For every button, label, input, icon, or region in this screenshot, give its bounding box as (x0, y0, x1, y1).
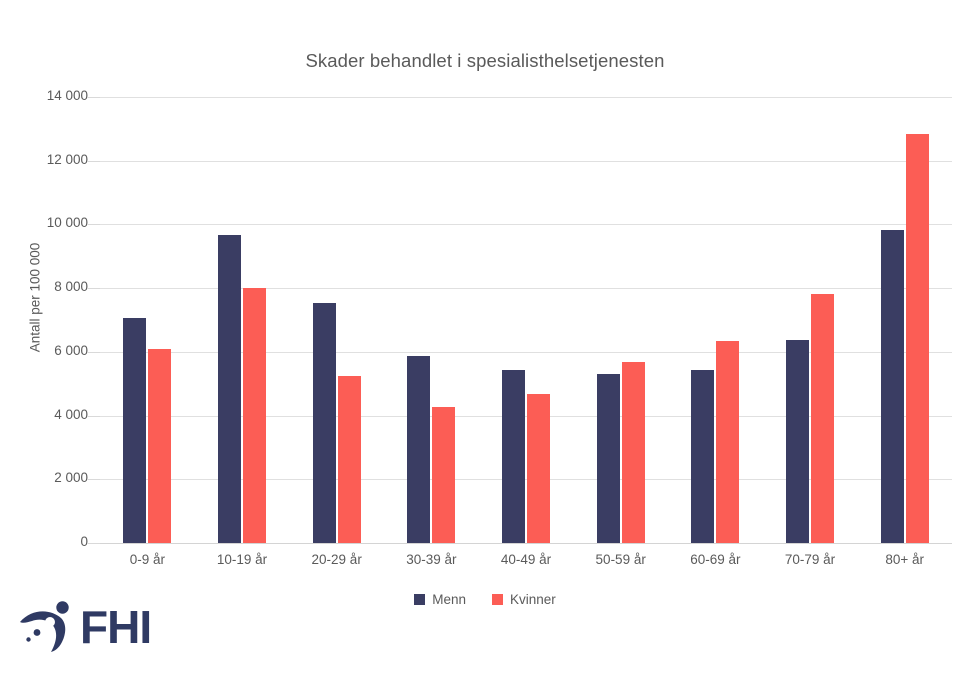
y-tick-mark (88, 543, 100, 544)
chart-title: Skader behandlet i spesialisthelsetjenes… (0, 50, 970, 72)
bar-groups (100, 97, 952, 543)
bar-group (100, 97, 195, 543)
y-tick-mark (88, 416, 100, 417)
bar-menn-8[interactable] (881, 230, 904, 543)
legend-item-menn[interactable]: Menn (414, 592, 466, 607)
y-tick-mark (88, 97, 100, 98)
bar-kvinner-6[interactable] (716, 341, 739, 543)
y-tick-label: 0 (8, 534, 88, 549)
bar-kvinner-7[interactable] (811, 294, 834, 543)
bar-group (479, 97, 574, 543)
bar-menn-7[interactable] (786, 340, 809, 543)
bar-kvinner-2[interactable] (338, 376, 361, 543)
bar-menn-5[interactable] (597, 374, 620, 543)
y-tick-mark (88, 224, 100, 225)
bar-group (668, 97, 763, 543)
bar-group (573, 97, 668, 543)
bar-group (384, 97, 479, 543)
bar-menn-3[interactable] (407, 356, 430, 543)
x-tick-label-0: 0-9 år (100, 552, 195, 574)
bar-kvinner-8[interactable] (906, 134, 929, 543)
legend-label: Menn (432, 592, 466, 607)
fhi-logo: FHI (18, 596, 198, 658)
legend-swatch-icon (492, 594, 503, 605)
x-tick-label-4: 40-49 år (479, 552, 574, 574)
x-tick-label-3: 30-39 år (384, 552, 479, 574)
fhi-wordmark: FHI (80, 604, 151, 650)
y-tick-mark (88, 161, 100, 162)
bar-group (763, 97, 858, 543)
bar-menn-1[interactable] (218, 235, 241, 543)
bar-menn-2[interactable] (313, 303, 336, 543)
y-tick-label: 14 000 (8, 88, 88, 103)
bar-menn-4[interactable] (502, 370, 525, 543)
legend-item-kvinner[interactable]: Kvinner (492, 592, 556, 607)
y-tick-label: 6 000 (8, 343, 88, 358)
chart-container: Skader behandlet i spesialisthelsetjenes… (0, 0, 970, 679)
bar-menn-0[interactable] (123, 318, 146, 543)
x-tick-label-5: 50-59 år (573, 552, 668, 574)
bar-kvinner-1[interactable] (243, 288, 266, 543)
fhi-figure-icon (18, 600, 76, 654)
plot-area (100, 97, 952, 543)
bar-menn-6[interactable] (691, 370, 714, 543)
x-tick-label-8: 80+ år (857, 552, 952, 574)
x-tick-label-6: 60-69 år (668, 552, 763, 574)
bar-group (857, 97, 952, 543)
gridline (100, 543, 952, 544)
x-tick-label-1: 10-19 år (195, 552, 290, 574)
legend-swatch-icon (414, 594, 425, 605)
y-tick-label: 4 000 (8, 407, 88, 422)
bar-group (289, 97, 384, 543)
bar-kvinner-3[interactable] (432, 407, 455, 543)
y-tick-mark (88, 352, 100, 353)
bar-kvinner-4[interactable] (527, 394, 550, 543)
bar-kvinner-0[interactable] (148, 349, 171, 543)
y-tick-label: 10 000 (8, 215, 88, 230)
y-tick-mark (88, 479, 100, 480)
y-tick-label: 8 000 (8, 279, 88, 294)
x-tick-label-2: 20-29 år (289, 552, 384, 574)
bar-group (195, 97, 290, 543)
x-axis-labels: 0-9 år10-19 år20-29 år30-39 år40-49 år50… (100, 552, 952, 574)
y-axis-title: Antall per 100 000 (28, 208, 43, 388)
legend-label: Kvinner (510, 592, 556, 607)
y-tick-mark (88, 288, 100, 289)
y-tick-label: 2 000 (8, 470, 88, 485)
y-tick-label: 12 000 (8, 152, 88, 167)
x-tick-label-7: 70-79 år (763, 552, 858, 574)
bar-kvinner-5[interactable] (622, 362, 645, 543)
